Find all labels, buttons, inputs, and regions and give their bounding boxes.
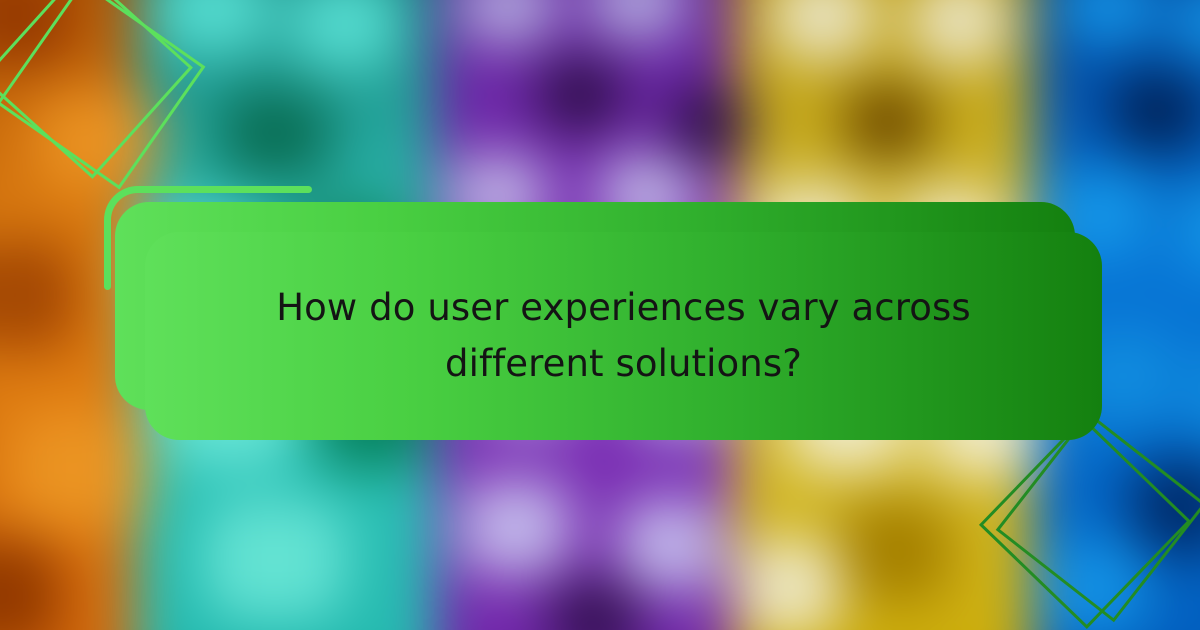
- bg-blob: [220, 90, 330, 180]
- bg-blob: [0, 240, 80, 350]
- bg-blob: [740, 540, 840, 630]
- bg-blob: [205, 500, 345, 620]
- bg-blob: [590, 0, 685, 40]
- bg-blob: [540, 60, 620, 130]
- bg-blob: [0, 540, 60, 630]
- bg-blob: [845, 85, 930, 160]
- bg-blob: [460, 0, 555, 45]
- bg-blob: [10, 410, 145, 530]
- card-front-layer: [145, 232, 1102, 440]
- bg-blob: [770, 0, 875, 60]
- bg-blob: [1115, 75, 1200, 150]
- bg-blob: [670, 90, 750, 160]
- bg-blob: [620, 500, 720, 590]
- bg-blob: [1060, 0, 1155, 45]
- bg-blob: [550, 580, 640, 630]
- bg-blob: [840, 500, 950, 600]
- bg-blob: [910, 0, 1010, 65]
- bg-blob: [460, 480, 570, 575]
- bg-blob: [1180, 185, 1200, 270]
- poster-canvas: How do user experiences vary across diff…: [0, 0, 1200, 630]
- bg-blob: [290, 0, 400, 70]
